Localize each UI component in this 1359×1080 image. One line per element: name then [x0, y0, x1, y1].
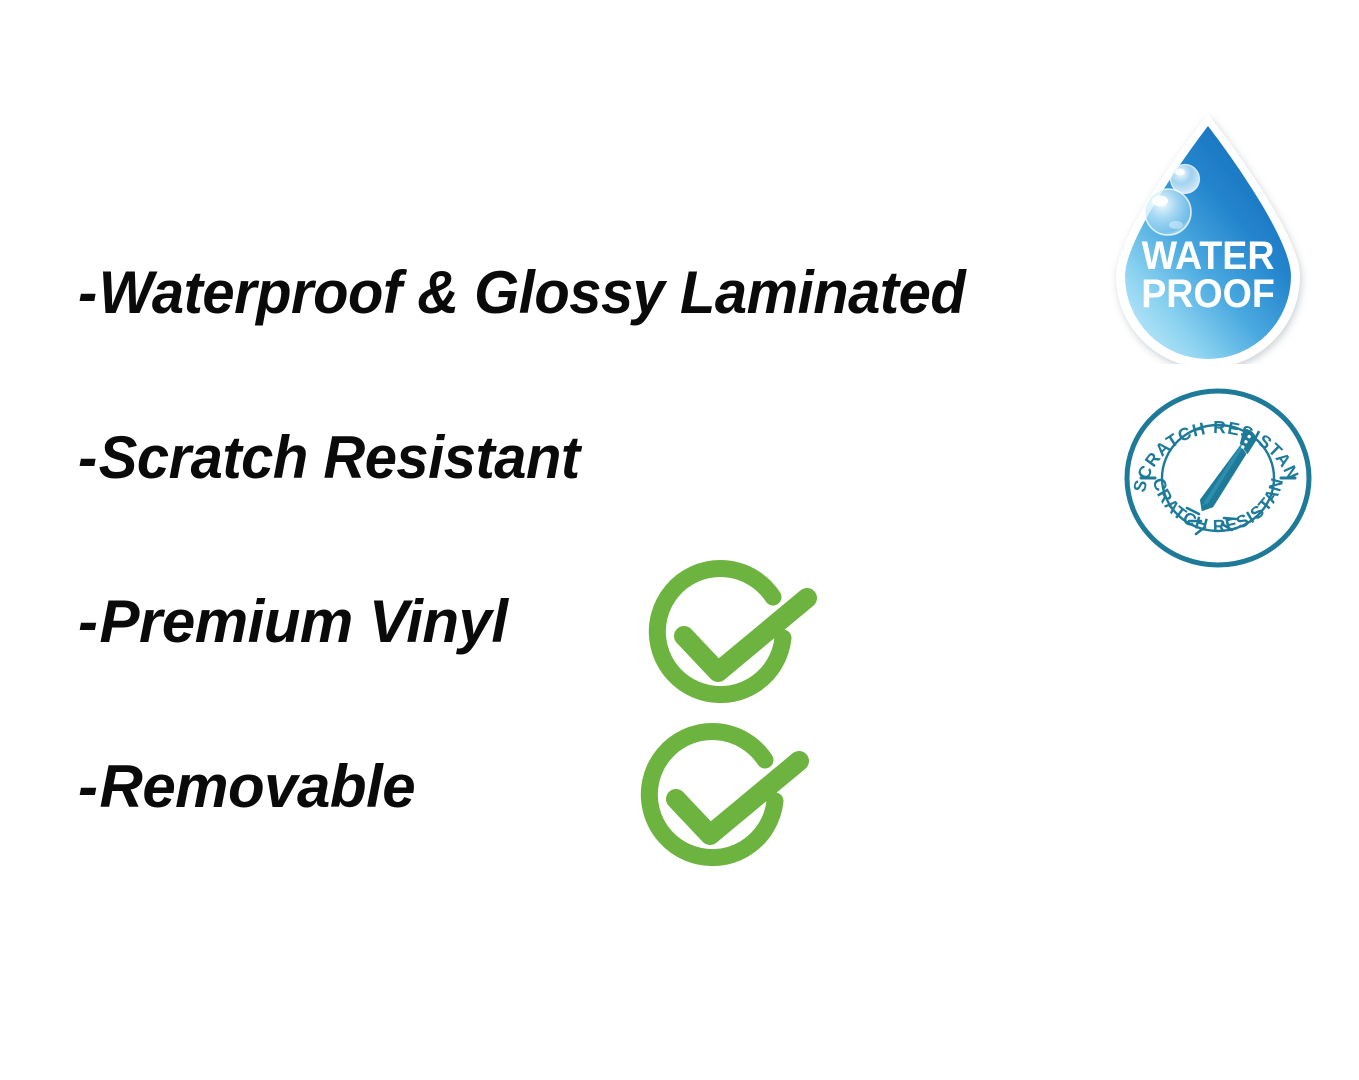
- feature-label: Removable: [99, 753, 415, 820]
- waterproof-line-2: PROOF: [1141, 272, 1275, 316]
- feature-dash: -: [78, 263, 97, 323]
- check-mark-premium-vinyl: [640, 553, 830, 723]
- check-circle-icon: [632, 716, 822, 886]
- scratch-resistant-badge: SCRATCH RESISTANT SCRATCH RESISTANT: [1123, 387, 1313, 569]
- feature-item-scratch-resistant: -Scratch Resistant: [78, 428, 580, 488]
- check-circle-icon: [640, 553, 830, 723]
- feature-dash: -: [78, 428, 97, 488]
- feature-dash: -: [78, 592, 97, 652]
- feature-item-waterproof-glossy-laminated: -Waterproof & Glossy Laminated: [78, 263, 965, 323]
- feature-label: Premium Vinyl: [99, 588, 507, 655]
- waterproof-badge: WATER PROOF: [1102, 108, 1314, 364]
- feature-item-removable: -Removable: [78, 757, 415, 817]
- feature-label: Scratch Resistant: [99, 424, 580, 491]
- check-mark-removable: [632, 716, 822, 886]
- feature-label: Waterproof & Glossy Laminated: [99, 259, 965, 326]
- feature-list-graphic: -Waterproof & Glossy Laminated -Scratch …: [0, 0, 1359, 1080]
- feature-dash: -: [78, 757, 97, 817]
- feature-item-premium-vinyl: -Premium Vinyl: [78, 592, 508, 652]
